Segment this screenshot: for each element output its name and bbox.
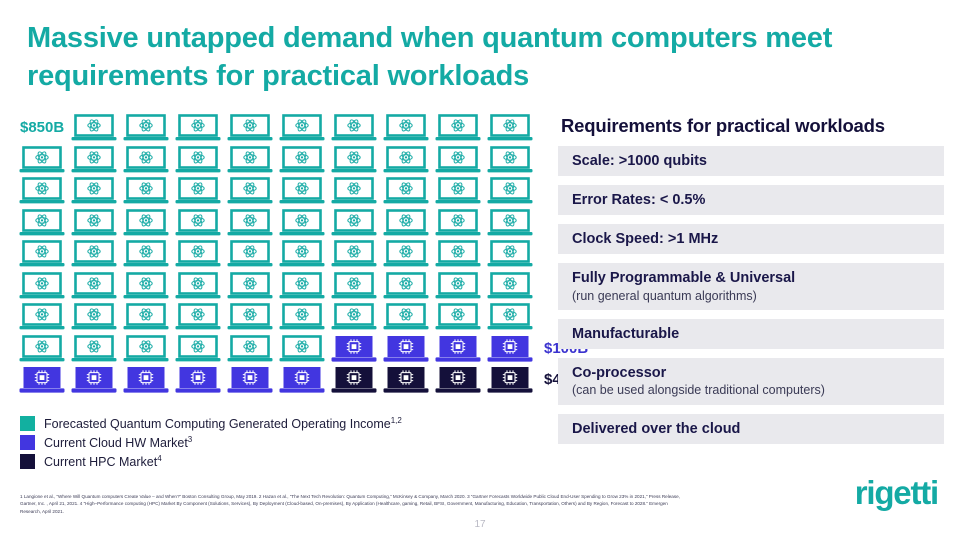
requirement-title: Scale: >1000 qubits bbox=[572, 152, 944, 170]
laptop-atom-icon bbox=[435, 303, 481, 330]
page-number: 17 bbox=[0, 519, 960, 530]
laptop-atom-icon bbox=[383, 303, 429, 330]
pictogram-cell bbox=[380, 207, 432, 239]
pictogram-grid: $850B$100B$40B bbox=[16, 112, 556, 396]
pictogram-row bbox=[16, 270, 556, 302]
requirement-subtitle: (can be used alongside traditional compu… bbox=[572, 383, 944, 399]
pictogram-cell bbox=[380, 238, 432, 270]
laptop-chip-icon bbox=[383, 366, 429, 393]
requirement-subtitle: (run general quantum algorithms) bbox=[572, 289, 944, 305]
legend-swatch-navy bbox=[20, 454, 35, 469]
requirements-list: Scale: >1000 qubitsError Rates: < 0.5%Cl… bbox=[558, 146, 944, 444]
pictogram-cell bbox=[120, 207, 172, 239]
pictogram-cell bbox=[328, 207, 380, 239]
pictogram-cell bbox=[276, 112, 328, 144]
pictogram-row: $40B bbox=[16, 364, 556, 396]
laptop-chip-icon bbox=[487, 366, 533, 393]
laptop-atom-icon bbox=[331, 303, 377, 330]
laptop-atom-icon bbox=[279, 209, 325, 236]
pictogram-cell bbox=[224, 364, 276, 396]
pictogram-cell bbox=[432, 112, 484, 144]
pictogram-cell bbox=[328, 301, 380, 333]
pictogram-cell bbox=[68, 333, 120, 365]
laptop-atom-icon bbox=[71, 240, 117, 267]
footnote-line-2: Gartner, Inc. , April 21, 2021. 4 “High–… bbox=[20, 500, 840, 507]
pictogram-cell bbox=[120, 112, 172, 144]
footnote-line-1: 1 Langione et al., “Where Will Quantum c… bbox=[20, 493, 840, 500]
laptop-atom-icon bbox=[123, 335, 169, 362]
pictogram-cell bbox=[120, 144, 172, 176]
requirement-item[interactable]: Co-processor(can be used alongside tradi… bbox=[558, 358, 944, 405]
laptop-atom-icon bbox=[435, 146, 481, 173]
laptop-atom-icon bbox=[227, 240, 273, 267]
pictogram-cell bbox=[432, 144, 484, 176]
pictogram-cell bbox=[432, 364, 484, 396]
laptop-atom-icon bbox=[175, 114, 221, 141]
laptop-atom-icon bbox=[71, 177, 117, 204]
pictogram-cell bbox=[172, 207, 224, 239]
laptop-atom-icon bbox=[279, 240, 325, 267]
pictogram-row: $850B bbox=[16, 112, 556, 144]
pictogram-cell bbox=[276, 238, 328, 270]
laptop-atom-icon bbox=[175, 209, 221, 236]
pictogram-row bbox=[16, 144, 556, 176]
laptop-atom-icon bbox=[123, 272, 169, 299]
legend-footnote-ref: 4 bbox=[157, 454, 161, 463]
laptop-chip-icon bbox=[435, 366, 481, 393]
laptop-atom-icon bbox=[383, 177, 429, 204]
laptop-atom-icon bbox=[227, 303, 273, 330]
pictogram-cell bbox=[432, 301, 484, 333]
pictogram-cell bbox=[484, 301, 536, 333]
pictogram-cell bbox=[68, 238, 120, 270]
laptop-atom-icon bbox=[331, 114, 377, 141]
pictogram-cell bbox=[16, 238, 68, 270]
legend-label: Forecasted Quantum Computing Generated O… bbox=[44, 416, 402, 431]
pictogram-cell bbox=[172, 333, 224, 365]
requirement-item[interactable]: Manufacturable bbox=[558, 319, 944, 349]
pictogram-cell bbox=[120, 364, 172, 396]
pictogram-cell bbox=[68, 175, 120, 207]
pictogram-cell bbox=[484, 364, 536, 396]
laptop-atom-icon bbox=[227, 146, 273, 173]
pictogram-cell bbox=[16, 175, 68, 207]
footnotes: 1 Langione et al., “Where Will Quantum c… bbox=[20, 493, 840, 515]
laptop-chip-icon bbox=[435, 335, 481, 362]
pictogram-cell bbox=[328, 144, 380, 176]
laptop-atom-icon bbox=[19, 272, 65, 299]
laptop-atom-icon bbox=[19, 177, 65, 204]
pictogram-cell bbox=[432, 333, 484, 365]
pictogram-cell bbox=[380, 144, 432, 176]
legend: Forecasted Quantum Computing Generated O… bbox=[20, 415, 540, 472]
laptop-chip-icon bbox=[227, 366, 273, 393]
pictogram-cell bbox=[68, 144, 120, 176]
pictogram-cell bbox=[328, 112, 380, 144]
laptop-atom-icon bbox=[19, 146, 65, 173]
laptop-atom-icon bbox=[71, 272, 117, 299]
pictogram-cell bbox=[328, 175, 380, 207]
laptop-atom-icon bbox=[279, 272, 325, 299]
pictogram-cell bbox=[16, 270, 68, 302]
laptop-atom-icon bbox=[175, 240, 221, 267]
laptop-chip-icon bbox=[175, 366, 221, 393]
laptop-atom-icon bbox=[435, 177, 481, 204]
laptop-atom-icon bbox=[227, 209, 273, 236]
laptop-atom-icon bbox=[227, 272, 273, 299]
pictogram-cell bbox=[328, 270, 380, 302]
laptop-atom-icon bbox=[435, 114, 481, 141]
requirement-title: Fully Programmable & Universal bbox=[572, 269, 944, 287]
pictogram-cell bbox=[484, 270, 536, 302]
laptop-atom-icon bbox=[175, 177, 221, 204]
laptop-atom-icon bbox=[487, 209, 533, 236]
pictogram-cell bbox=[432, 238, 484, 270]
pictogram-cell bbox=[276, 144, 328, 176]
pictogram-cell bbox=[120, 175, 172, 207]
pictogram-cell bbox=[484, 144, 536, 176]
laptop-atom-icon bbox=[279, 146, 325, 173]
laptop-atom-icon bbox=[175, 335, 221, 362]
laptop-atom-icon bbox=[227, 177, 273, 204]
laptop-atom-icon bbox=[71, 335, 117, 362]
pictogram-cell bbox=[380, 112, 432, 144]
pictogram-cell bbox=[172, 112, 224, 144]
pictogram-cell bbox=[120, 301, 172, 333]
requirement-title: Co-processor bbox=[572, 364, 944, 382]
pictogram-cell bbox=[16, 301, 68, 333]
laptop-atom-icon bbox=[487, 240, 533, 267]
laptop-atom-icon bbox=[71, 146, 117, 173]
legend-item: Current HPC Market4 bbox=[20, 453, 540, 470]
pictogram-cell bbox=[224, 112, 276, 144]
pictogram-cell bbox=[224, 301, 276, 333]
pictogram-cell bbox=[276, 333, 328, 365]
pictogram-row: $100B bbox=[16, 333, 556, 365]
laptop-atom-icon bbox=[331, 177, 377, 204]
pictogram-cell bbox=[224, 238, 276, 270]
legend-swatch-teal bbox=[20, 416, 35, 431]
pictogram-cell bbox=[172, 144, 224, 176]
laptop-atom-icon bbox=[487, 303, 533, 330]
laptop-atom-icon bbox=[279, 114, 325, 141]
pictogram-cell bbox=[172, 175, 224, 207]
legend-label: Current HPC Market4 bbox=[44, 454, 162, 469]
legend-item: Forecasted Quantum Computing Generated O… bbox=[20, 415, 540, 432]
legend-swatch-blue bbox=[20, 435, 35, 450]
laptop-chip-icon bbox=[331, 335, 377, 362]
pictogram-cell bbox=[16, 364, 68, 396]
laptop-atom-icon bbox=[227, 335, 273, 362]
pictogram-cell bbox=[484, 112, 536, 144]
pictogram-cell bbox=[68, 207, 120, 239]
requirement-title: Delivered over the cloud bbox=[572, 420, 944, 438]
pictogram-cell bbox=[16, 333, 68, 365]
pictogram-cell bbox=[172, 301, 224, 333]
pictogram-cell bbox=[172, 238, 224, 270]
laptop-atom-icon bbox=[123, 209, 169, 236]
page-title: Massive untapped demand when quantum com… bbox=[27, 20, 927, 95]
pictogram-cell bbox=[68, 112, 120, 144]
pictogram-cell bbox=[484, 333, 536, 365]
laptop-atom-icon bbox=[175, 146, 221, 173]
pictogram-cell bbox=[432, 270, 484, 302]
pictogram-cell bbox=[484, 175, 536, 207]
laptop-atom-icon bbox=[123, 146, 169, 173]
legend-footnote-ref: 3 bbox=[188, 435, 192, 444]
pictogram-cell bbox=[120, 270, 172, 302]
laptop-atom-icon bbox=[19, 335, 65, 362]
pictogram-cell bbox=[68, 270, 120, 302]
pictogram-cell bbox=[328, 333, 380, 365]
laptop-atom-icon bbox=[175, 272, 221, 299]
laptop-atom-icon bbox=[123, 303, 169, 330]
pictogram-cell bbox=[276, 364, 328, 396]
laptop-atom-icon bbox=[435, 272, 481, 299]
pictogram-cell bbox=[172, 270, 224, 302]
laptop-chip-icon bbox=[279, 366, 325, 393]
pictogram-cell bbox=[224, 333, 276, 365]
laptop-atom-icon bbox=[123, 114, 169, 141]
pictogram-row bbox=[16, 238, 556, 270]
laptop-atom-icon bbox=[71, 114, 117, 141]
legend-label: Current Cloud HW Market3 bbox=[44, 435, 192, 450]
pictogram-cell bbox=[120, 238, 172, 270]
laptop-atom-icon bbox=[487, 114, 533, 141]
laptop-atom-icon bbox=[331, 209, 377, 236]
laptop-chip-icon bbox=[123, 366, 169, 393]
pictogram-cell bbox=[380, 175, 432, 207]
slide-root: Massive untapped demand when quantum com… bbox=[0, 0, 960, 540]
pictogram-cell bbox=[276, 175, 328, 207]
rigetti-logo: rigetti bbox=[855, 474, 938, 512]
requirement-item[interactable]: Scale: >1000 qubits bbox=[558, 146, 944, 176]
pictogram-cell bbox=[16, 144, 68, 176]
laptop-atom-icon bbox=[487, 272, 533, 299]
pictogram-cell bbox=[328, 364, 380, 396]
pictogram-cell bbox=[68, 364, 120, 396]
legend-item: Current Cloud HW Market3 bbox=[20, 434, 540, 451]
pictogram-cell bbox=[224, 270, 276, 302]
pictogram-cell bbox=[224, 144, 276, 176]
pictogram-cell bbox=[432, 207, 484, 239]
pictogram-cell bbox=[380, 301, 432, 333]
laptop-atom-icon bbox=[279, 303, 325, 330]
requirement-item[interactable]: Fully Programmable & Universal(run gener… bbox=[558, 263, 944, 310]
pictogram-cell bbox=[484, 207, 536, 239]
laptop-chip-icon bbox=[71, 366, 117, 393]
pictogram-cell bbox=[328, 238, 380, 270]
pictogram-cell bbox=[484, 238, 536, 270]
laptop-atom-icon bbox=[487, 146, 533, 173]
laptop-atom-icon bbox=[331, 272, 377, 299]
laptop-atom-icon bbox=[487, 177, 533, 204]
requirement-title: Clock Speed: >1 MHz bbox=[572, 230, 944, 248]
laptop-atom-icon bbox=[435, 209, 481, 236]
pictogram-row bbox=[16, 207, 556, 239]
laptop-atom-icon bbox=[71, 209, 117, 236]
laptop-atom-icon bbox=[383, 240, 429, 267]
pictogram-cell bbox=[224, 207, 276, 239]
laptop-atom-icon bbox=[435, 240, 481, 267]
pictogram-cell bbox=[172, 364, 224, 396]
requirements-heading: Requirements for practical workloads bbox=[561, 115, 944, 137]
legend-footnote-ref: 1,2 bbox=[391, 416, 402, 425]
requirement-item[interactable]: Error Rates: < 0.5% bbox=[558, 185, 944, 215]
laptop-atom-icon bbox=[227, 114, 273, 141]
laptop-atom-icon bbox=[175, 303, 221, 330]
laptop-chip-icon bbox=[487, 335, 533, 362]
pictogram-cell bbox=[276, 270, 328, 302]
requirement-item[interactable]: Delivered over the cloud bbox=[558, 414, 944, 444]
laptop-atom-icon bbox=[19, 303, 65, 330]
laptop-atom-icon bbox=[19, 209, 65, 236]
laptop-atom-icon bbox=[279, 335, 325, 362]
laptop-atom-icon bbox=[123, 240, 169, 267]
pictogram-cell bbox=[276, 207, 328, 239]
laptop-chip-icon bbox=[331, 366, 377, 393]
laptop-atom-icon bbox=[123, 177, 169, 204]
laptop-atom-icon bbox=[383, 209, 429, 236]
laptop-atom-icon bbox=[331, 240, 377, 267]
pictogram-cell bbox=[380, 333, 432, 365]
laptop-atom-icon bbox=[383, 114, 429, 141]
pictogram-cell bbox=[380, 364, 432, 396]
pictogram-cell bbox=[16, 207, 68, 239]
laptop-atom-icon bbox=[331, 146, 377, 173]
pictogram-cell bbox=[380, 270, 432, 302]
pictogram-row bbox=[16, 175, 556, 207]
laptop-atom-icon bbox=[383, 146, 429, 173]
pictogram-cell bbox=[120, 333, 172, 365]
footnote-line-3: Research, April 2021. bbox=[20, 508, 840, 515]
laptop-atom-icon bbox=[279, 177, 325, 204]
laptop-atom-icon bbox=[71, 303, 117, 330]
requirement-title: Error Rates: < 0.5% bbox=[572, 191, 944, 209]
pictogram-cell bbox=[224, 175, 276, 207]
value-label-850b: $850B bbox=[16, 112, 68, 144]
laptop-atom-icon bbox=[19, 240, 65, 267]
requirement-title: Manufacturable bbox=[572, 325, 944, 343]
requirements-panel: Requirements for practical workloads Sca… bbox=[558, 115, 944, 453]
pictogram-cell bbox=[432, 175, 484, 207]
pictogram-row bbox=[16, 301, 556, 333]
pictogram-cell bbox=[276, 301, 328, 333]
requirement-item[interactable]: Clock Speed: >1 MHz bbox=[558, 224, 944, 254]
pictogram-cell bbox=[68, 301, 120, 333]
laptop-atom-icon bbox=[383, 272, 429, 299]
laptop-chip-icon bbox=[383, 335, 429, 362]
laptop-chip-icon bbox=[19, 366, 65, 393]
